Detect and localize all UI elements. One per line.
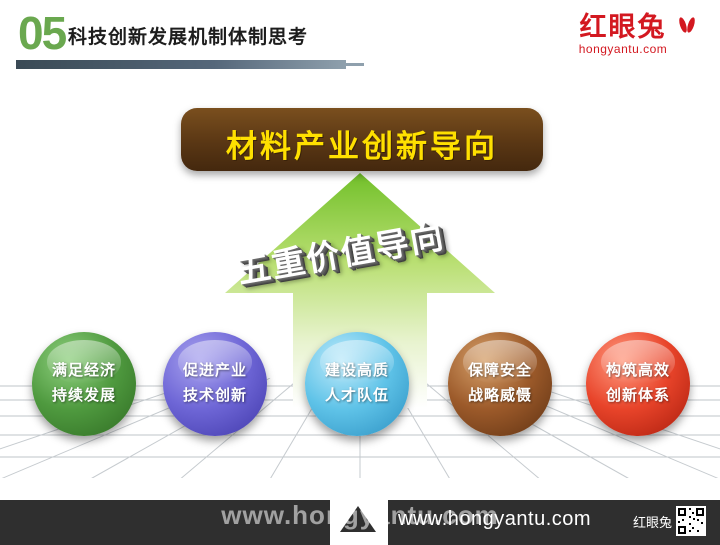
- node-circle-4[interactable]: 保障安全 战略威慑: [448, 332, 552, 436]
- qr-caption: 红眼兔: [633, 512, 672, 531]
- slide-footer: www.hongyantu.com 红眼兔: [0, 478, 720, 545]
- footer-url[interactable]: www.hongyantu.com: [398, 508, 591, 531]
- node-circle-2[interactable]: 促进产业 技术创新: [163, 332, 267, 436]
- node-label-1: 满足经济 持续发展: [32, 358, 136, 408]
- node-circle-1[interactable]: 满足经济 持续发展: [32, 332, 136, 436]
- slide-header: 05 科技创新发展机制体制思考 红眼兔 hongyantu.com: [0, 0, 720, 78]
- node-label-3: 建设高质 人才队伍: [305, 358, 409, 408]
- node-circle-3[interactable]: 建设高质 人才队伍: [305, 332, 409, 436]
- brand-logo: 红眼兔 hongyantu.com: [540, 12, 706, 64]
- node-label-5: 构筑高效 创新体系: [586, 358, 690, 408]
- banner-box: 材料产业创新导向: [181, 108, 543, 171]
- page-title: 科技创新发展机制体制思考: [68, 22, 308, 49]
- node-label-4: 保障安全 战略威慑: [448, 358, 552, 408]
- footer-triangle-icon: [340, 506, 376, 532]
- footer-bar-left: [0, 500, 330, 545]
- slide-canvas: 05 科技创新发展机制体制思考 红眼兔 hongyantu.com: [0, 0, 720, 545]
- node-circle-5[interactable]: 构筑高效 创新体系: [586, 332, 690, 436]
- diagram-stage: 材料产业创新导向 五重价值导向 满足经济 持续发展 促进产业 技术创新 建设高质: [0, 78, 720, 478]
- qr-code-svg: [676, 506, 706, 536]
- header-rule-tail: [346, 63, 364, 66]
- qr-code-icon: [676, 506, 706, 536]
- header-rule: [16, 60, 346, 69]
- banner-label: 材料产业创新导向: [181, 121, 543, 166]
- section-number: 05: [18, 10, 65, 56]
- node-label-2: 促进产业 技术创新: [163, 358, 267, 408]
- rabbit-ears-icon: [676, 16, 698, 36]
- logo-text-en: hongyantu.com: [540, 42, 706, 56]
